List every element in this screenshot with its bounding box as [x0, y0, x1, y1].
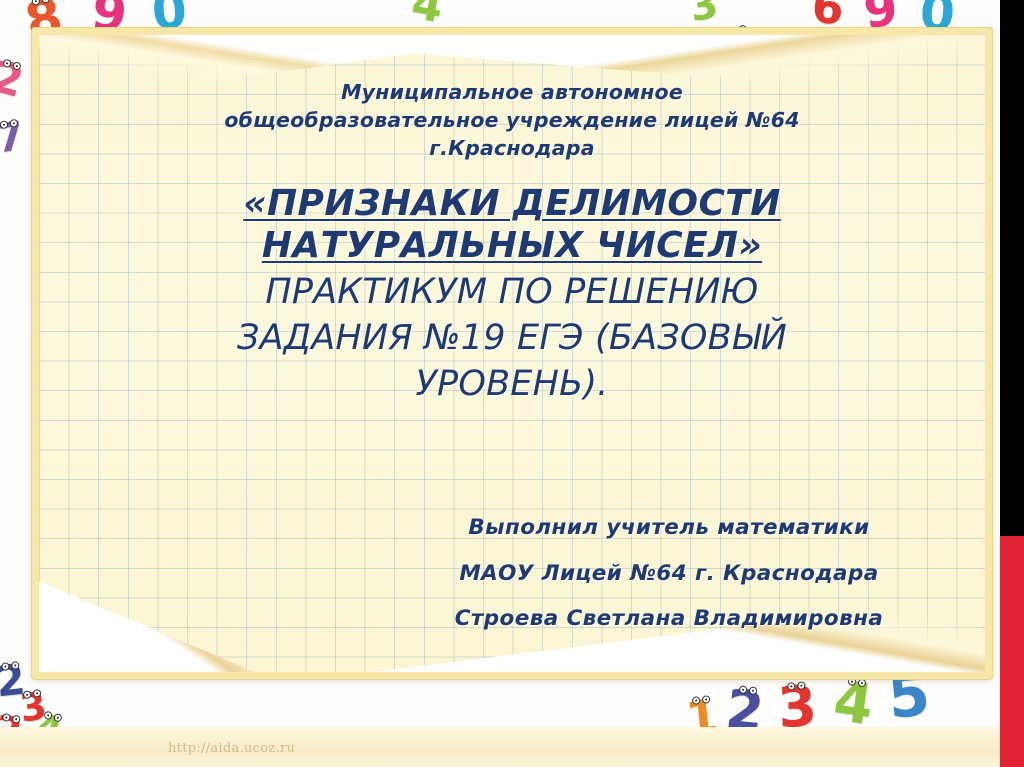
organization-line-3: г.Краснодара — [99, 135, 925, 163]
cartoon-eyes-icon — [1, 661, 20, 671]
right-edge-black-stripe — [1000, 0, 1024, 536]
cartoon-eyes-icon — [3, 59, 22, 71]
subtitle-line-3: УРОВЕНЬ). — [73, 363, 951, 405]
slide-content: Муниципальное автономное общеобразовател… — [39, 35, 985, 672]
cartoon-number-7: 7 — [0, 116, 26, 159]
cartoon-number-4: 4 — [830, 674, 876, 735]
organization-line-2: общеобразовательное учреждение лицей №64 — [99, 107, 925, 135]
cartoon-eyes-icon — [31, 0, 50, 6]
cartoon-number-4: 4 — [408, 0, 446, 30]
cartoon-eyes-icon — [44, 711, 63, 723]
author-block: Выполнил учитель математики МАОУ Лицей №… — [399, 505, 939, 642]
author-line-2: МАОУ Лицей №64 г. Краснодара — [399, 551, 939, 597]
subtitle-line-2: ЗАДАНИЯ №19 ЕГЭ (БАЗОВЫЙ — [73, 317, 951, 359]
organization-block: Муниципальное автономное общеобразовател… — [99, 79, 925, 163]
cartoon-number-6: 6 — [810, 0, 847, 32]
page-title-line-1: «ПРИЗНАКИ ДЕЛИМОСТИ — [73, 183, 951, 225]
source-watermark: http://aida.ucoz.ru — [168, 741, 295, 756]
subtitle-line-1: ПРАКТИКУМ ПО РЕШЕНИЮ — [73, 271, 951, 313]
cartoon-eyes-icon — [739, 685, 758, 695]
cartoon-number-3: 3 — [687, 0, 721, 28]
cartoon-eyes-icon — [0, 119, 18, 129]
cartoon-number-2: 2 — [0, 659, 27, 704]
author-line-1: Выполнил учитель математики — [399, 505, 939, 551]
cartoon-number-2: 2 — [0, 55, 28, 105]
presentation-slide: 89027143116901342345123451890 Муниципаль… — [0, 0, 1024, 767]
author-line-3: Строева Светлана Владимировна — [399, 596, 939, 642]
page-title-line-2: НАТУРАЛЬНЫХ ЧИСЕЛ» — [73, 225, 951, 267]
bottom-cream-strip — [0, 727, 1000, 767]
cartoon-eyes-icon — [788, 681, 807, 690]
organization-line-1: Муниципальное автономное — [99, 79, 925, 107]
cartoon-eyes-icon — [692, 695, 711, 705]
grid-paper-sheet: Муниципальное автономное общеобразовател… — [32, 28, 992, 679]
cartoon-eyes-icon — [2, 713, 21, 724]
title-block: «ПРИЗНАКИ ДЕЛИМОСТИ НАТУРАЛЬНЫХ ЧИСЕЛ» П… — [73, 183, 951, 405]
right-edge-red-stripe — [1000, 536, 1024, 767]
